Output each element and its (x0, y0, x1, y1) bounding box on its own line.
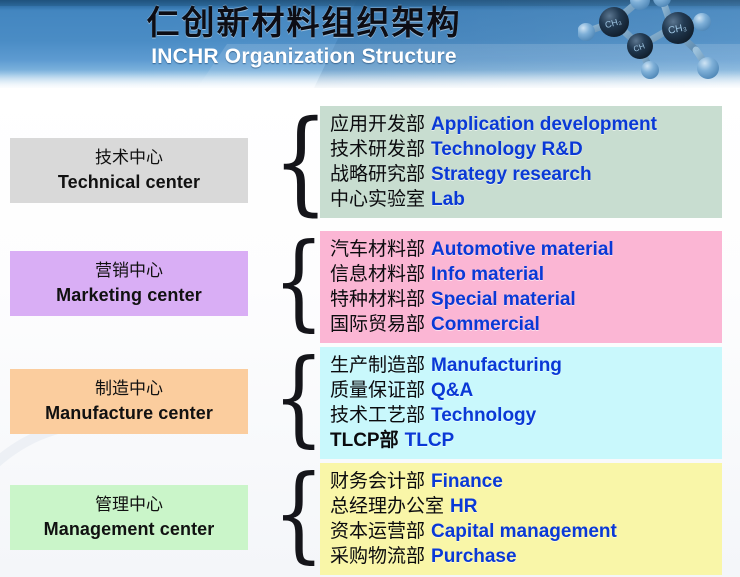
org-section-management: 管理中心 Management center { 财务会计部Finance 总经… (0, 461, 740, 565)
department-name-chinese: 资本运营部 (330, 520, 425, 542)
center-label-box[interactable]: 管理中心 Management center (10, 485, 248, 550)
molecule-icon: CH₃ CH CH₃ (578, 0, 738, 88)
department-name-chinese: TLCP部 (330, 430, 399, 451)
molecule-atom (578, 23, 595, 41)
center-label-english: Technical center (14, 170, 244, 194)
department-name-chinese: 质量保证部 (330, 379, 425, 401)
department-panel: 财务会计部Finance 总经理办公室HR 资本运营部Capital manag… (320, 463, 722, 575)
department-name-chinese: 总经理办公室 (330, 495, 444, 517)
department-row[interactable]: 采购物流部Purchase (330, 544, 722, 569)
center-label-box[interactable]: 制造中心 Manufacture center (10, 369, 248, 434)
department-row[interactable]: 特种材料部Special material (330, 287, 722, 312)
department-panel: 汽车材料部Automotive material 信息材料部Info mater… (320, 231, 722, 343)
center-label-chinese: 管理中心 (14, 493, 244, 517)
center-label-box[interactable]: 营销中心 Marketing center (10, 251, 248, 316)
department-name-chinese: 生产制造部 (330, 354, 425, 376)
department-row[interactable]: 生产制造部Manufacturing (330, 353, 722, 378)
center-label-english: Manufacture center (14, 401, 244, 425)
center-label-chinese: 制造中心 (14, 377, 244, 401)
department-name-english: Automotive material (431, 239, 614, 260)
department-row[interactable]: TLCP部TLCP (330, 428, 722, 453)
department-row[interactable]: 战略研究部Strategy research (330, 162, 722, 187)
department-panel: 生产制造部Manufacturing 质量保证部Q&A 技术工艺部Technol… (320, 347, 722, 459)
department-name-english: Capital management (431, 521, 617, 542)
header-banner: 仁创新材料组织架构 INCHR Organization Structure (0, 0, 740, 88)
brace-connector: { (273, 229, 307, 333)
center-label-chinese: 技术中心 (14, 146, 244, 170)
center-label-box[interactable]: 技术中心 Technical center (10, 138, 248, 203)
department-panel: 应用开发部Application development 技术研发部Techno… (320, 106, 722, 218)
department-row[interactable]: 信息材料部Info material (330, 262, 722, 287)
department-name-chinese: 采购物流部 (330, 545, 425, 567)
department-row[interactable]: 财务会计部Finance (330, 469, 722, 494)
molecule-atom (697, 57, 719, 79)
department-name-english: TLCP (405, 430, 455, 451)
department-name-english: Q&A (431, 380, 473, 401)
center-label-english: Marketing center (14, 283, 244, 307)
department-name-english: Info material (431, 264, 544, 285)
department-row[interactable]: 中心实验室Lab (330, 187, 722, 212)
brace-connector: { (273, 461, 307, 565)
brace-connector: { (273, 345, 307, 449)
department-row[interactable]: 技术研发部Technology R&D (330, 137, 722, 162)
org-section-marketing: 营销中心 Marketing center { 汽车材料部Automotive … (0, 229, 740, 331)
department-row[interactable]: 技术工艺部Technology (330, 403, 722, 428)
department-row[interactable]: 国际贸易部Commercial (330, 312, 722, 337)
department-row[interactable]: 汽车材料部Automotive material (330, 237, 722, 262)
department-name-chinese: 技术工艺部 (330, 404, 425, 426)
org-section-manufacture: 制造中心 Manufacture center { 生产制造部Manufactu… (0, 345, 740, 449)
department-name-chinese: 财务会计部 (330, 470, 425, 492)
org-section-technical: 技术中心 Technical center { 应用开发部Application… (0, 98, 740, 214)
page-title-english: INCHR Organization Structure (0, 44, 608, 70)
title-block: 仁创新材料组织架构 INCHR Organization Structure (0, 2, 608, 70)
department-name-english: Special material (431, 289, 576, 310)
department-name-english: Commercial (431, 314, 540, 335)
department-name-chinese: 汽车材料部 (330, 238, 425, 260)
department-name-english: Technology R&D (431, 139, 583, 160)
center-label-english: Management center (14, 517, 244, 541)
department-name-english: Manufacturing (431, 355, 562, 376)
department-name-chinese: 中心实验室 (330, 188, 425, 210)
department-name-chinese: 国际贸易部 (330, 313, 425, 335)
page-title-chinese: 仁创新材料组织架构 (0, 2, 608, 44)
department-name-chinese: 特种材料部 (330, 288, 425, 310)
molecule-atom (641, 61, 659, 79)
department-row[interactable]: 资本运营部Capital management (330, 519, 722, 544)
molecule-atom (693, 13, 711, 31)
department-name-english: Purchase (431, 546, 517, 567)
department-name-english: Finance (431, 471, 503, 492)
department-name-chinese: 技术研发部 (330, 138, 425, 160)
center-label-chinese: 营销中心 (14, 259, 244, 283)
department-name-chinese: 应用开发部 (330, 113, 425, 135)
department-name-english: Technology (431, 405, 536, 426)
department-name-english: Lab (431, 189, 465, 210)
department-name-chinese: 战略研究部 (330, 163, 425, 185)
department-row[interactable]: 质量保证部Q&A (330, 378, 722, 403)
department-name-english: Strategy research (431, 164, 592, 185)
brace-connector: { (273, 106, 307, 218)
department-row[interactable]: 应用开发部Application development (330, 112, 722, 137)
department-name-chinese: 信息材料部 (330, 263, 425, 285)
department-name-english: HR (450, 496, 477, 517)
department-name-english: Application development (431, 114, 657, 135)
department-row[interactable]: 总经理办公室HR (330, 494, 722, 519)
